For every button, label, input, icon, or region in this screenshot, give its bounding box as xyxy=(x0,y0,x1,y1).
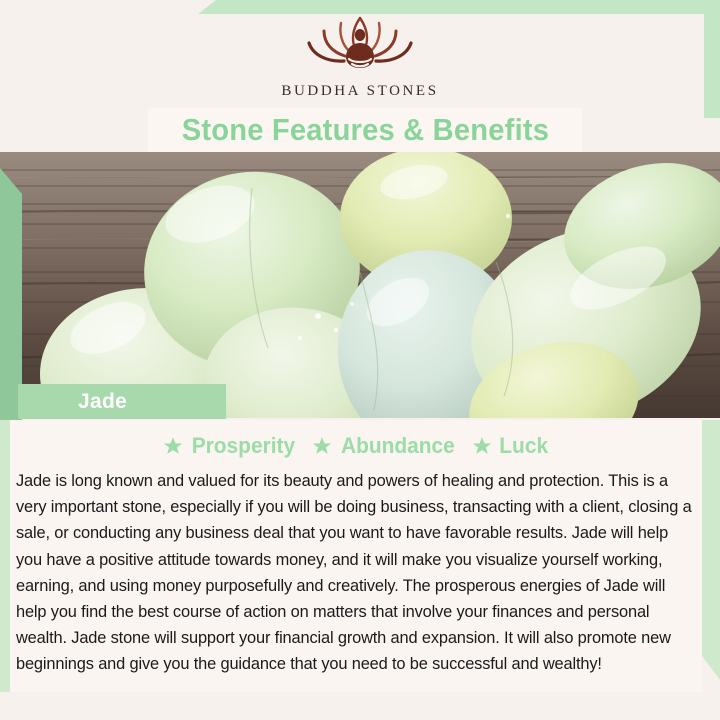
benefit-item: Abundance xyxy=(312,433,458,459)
lotus-meditation-icon xyxy=(301,12,419,78)
decorative-green-right-strip-lower xyxy=(702,420,720,680)
benefit-item: Prosperity xyxy=(163,433,298,459)
stone-name-band: Jade xyxy=(18,384,226,419)
infographic-page: BUDDHA STONES Stone Features & Benefits xyxy=(0,0,720,720)
benefit-item: Luck xyxy=(472,433,549,459)
page-title: Stone Features & Benefits xyxy=(181,112,548,148)
decorative-green-left-strip xyxy=(0,168,22,420)
benefit-label: Abundance xyxy=(341,433,455,459)
benefit-label: Luck xyxy=(499,433,548,459)
brand-header: BUDDHA STONES xyxy=(0,0,720,112)
star-icon xyxy=(472,436,492,456)
benefits-row: Prosperity Abundance Luck xyxy=(10,428,702,464)
description-paragraph: Jade is long known and valued for its be… xyxy=(16,468,696,678)
star-icon xyxy=(312,436,332,456)
benefit-label: Prosperity xyxy=(192,433,295,459)
title-banner: Stone Features & Benefits xyxy=(148,108,582,152)
brand-name: BUDDHA STONES xyxy=(281,83,438,100)
content-panel: Prosperity Abundance Luck Jade is xyxy=(10,420,702,692)
star-icon xyxy=(163,436,183,456)
jade-stones-photo xyxy=(0,152,720,418)
stone-name-label: Jade xyxy=(18,390,127,414)
